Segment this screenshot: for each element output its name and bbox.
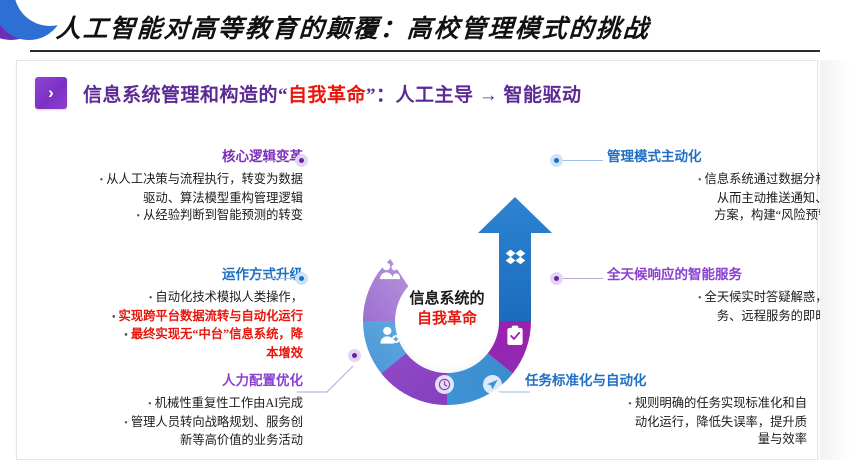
content-card: › 信息系统管理和构造的“自我革命”：人工主导 → 智能驱动 核心逻辑变革 • … [16,60,818,460]
connector-core-logic [255,154,308,167]
list-item: 管理模式 [607,225,852,243]
list-item: • 自动化技术模拟人类操作， [21,289,303,308]
bullet-marker: • [100,175,104,186]
bullet-marker: • [124,330,128,341]
bullet-text: 管理人员转向战略规划、服务创 [131,415,303,429]
list-item: 量与效率 [525,431,807,449]
bullet-text: 驱动、算法模型重构管理逻辑 [143,191,303,205]
bullet-text: 新等高价值的业务活动 [180,433,303,447]
bullet-text: 从经验判断到智能预测的转变 [143,208,303,222]
block-task-standardization: 任务标准化与自动化 • 规则明确的任务实现标准化和自 动化运行，降低失误率，提升… [525,373,807,449]
clock-icon [435,375,454,394]
connector-line [255,278,295,279]
send-icon [483,375,502,394]
list-item: • 从人工决策与流程执行，转变为数据 [21,171,303,190]
title-underline [30,50,820,52]
connector-line [255,160,295,161]
section-title: 信息系统管理和构造的“自我革命”：人工主导 → 智能驱动 [83,80,582,107]
bullet-text: 自动化技术模拟人类操作， [155,290,303,304]
bullet-text: 动化运行，降低失误率，提升质 [635,415,807,429]
bullet-marker: • [112,312,116,323]
users-icon [379,261,401,281]
section-title-highlight: 自我革命 [288,85,366,106]
section-title-post: ”：人工主导 → 智能驱动 [366,85,582,106]
block-bullets: • 规则明确的任务实现标准化和自 动化运行，降低失误率，提升质 量与效率 [525,395,807,449]
bullet-text: 量与效率 [758,432,807,446]
connector-dot [295,272,308,285]
bullet-marker: • [628,399,632,410]
block-proactive-management: 管理模式主动化 • 信息系统通过数据分析进行预判， 从而主动推送通知、提醒或解决… [607,149,852,242]
block-always-on-service: 全天候响应的智能服务 • 全天候实时答疑解惑，实现管理服 务、远程服务的即时性与… [607,267,852,325]
list-item: 动化运行，降低失误率，提升质 [525,414,807,432]
connector-proactive-management [550,154,603,167]
list-item: • 最终实现无“中台”信息系统，降 [21,326,303,345]
block-bullets: • 自动化技术模拟人类操作， • 实现跨平台数据流转与自动化运行 • 最终实现无… [21,289,303,362]
list-item: 驱动、算法模型重构管理逻辑 [21,190,303,208]
title-bar: 人工智能对高等教育的颠覆：高校管理模式的挑战 [0,0,852,56]
block-bullets: • 机械性重复性工作由AI完成 • 管理人员转向战略规划、服务创 新等高价值的业… [21,395,303,450]
bullet-text: 本增效 [266,346,303,360]
list-item: 新等高价值的业务活动 [21,432,303,450]
block-bullets: • 信息系统通过数据分析进行预判， 从而主动推送通知、提醒或解决 方案，构建“风… [607,171,852,242]
block-workforce-optimization: 人力配置优化 • 机械性重复性工作由AI完成 • 管理人员转向战略规划、服务创 … [21,373,303,450]
block-heading: 管理模式主动化 [607,149,852,165]
connector-dot [295,154,308,167]
list-item: 从而主动推送通知、提醒或解决 [607,190,852,208]
bullet-marker: • [149,293,153,304]
list-item: • 管理人员转向战略规划、服务创 [21,414,303,433]
bullet-marker: • [698,293,702,304]
bullet-text: 规则明确的任务实现标准化和自 [635,396,807,410]
block-heading: 任务标准化与自动化 [525,373,807,389]
center-line-2: 自我革命 [367,309,527,329]
list-item: 务、远程服务的即时性与常态化 [607,308,852,326]
list-item: • 从经验判断到智能预测的转变 [21,207,303,226]
footer-pad [0,462,852,469]
box-icon [505,249,526,266]
donut-center-label: 信息系统的 自我革命 [367,289,527,329]
list-item: 方案，构建“风险预警-主动干预” [607,207,852,225]
connector-line [563,278,603,279]
bullet-marker: • [124,418,128,429]
bullet-marker: • [698,175,702,186]
list-item: • 机械性重复性工作由AI完成 [21,395,303,414]
bullet-text: 机械性重复性工作由AI完成 [155,396,303,410]
chevron-right-icon: › [35,77,67,109]
connector-operation-upgrade [255,272,308,285]
list-item: 本增效 [21,345,303,363]
connector-line [563,160,603,161]
block-heading: 全天候响应的智能服务 [607,267,852,283]
right-edge-strip [820,60,852,460]
bullet-marker: • [148,399,152,410]
center-line-1: 信息系统的 [367,289,527,309]
donut-diagram: 信息系统的 自我革命 [335,193,567,433]
block-bullets: • 从人工决策与流程执行，转变为数据 驱动、算法模型重构管理逻辑 • 从经验判断… [21,171,303,226]
section-header: › 信息系统管理和构造的“自我革命”：人工主导 → 智能驱动 [35,77,582,109]
list-item: • 实现跨平台数据流转与自动化运行 [21,308,303,327]
list-item: • 全天候实时答疑解惑，实现管理服 [607,289,852,308]
section-title-pre: 信息系统管理和构造的“ [83,85,288,106]
block-heading: 人力配置优化 [21,373,303,389]
page-title: 人工智能对高等教育的颠覆：高校管理模式的挑战 [55,9,651,45]
clock-badge [435,375,454,394]
list-item: • 信息系统通过数据分析进行预判， [607,171,852,190]
bullet-text: 最终实现无“中台”信息系统，降 [131,327,303,341]
list-item: • 规则明确的任务实现标准化和自 [525,395,807,414]
block-bullets: • 全天候实时答疑解惑，实现管理服 务、远程服务的即时性与常态化 [607,289,852,325]
bullet-text: 实现跨平台数据流转与自动化运行 [119,309,303,323]
connector-dot [550,154,563,167]
bullet-text: 从人工决策与流程执行，转变为数据 [106,172,303,186]
bullet-marker: • [137,211,141,222]
send-badge [483,375,502,394]
